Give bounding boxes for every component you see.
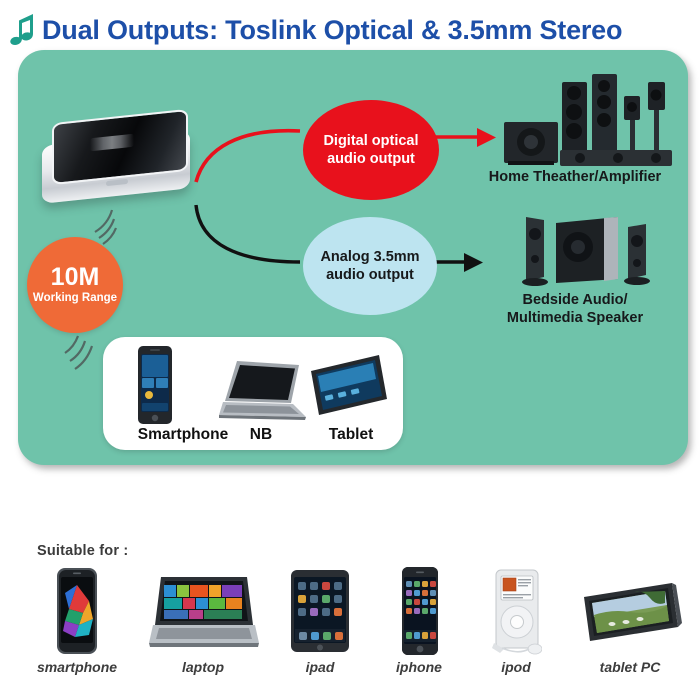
windows-laptop-icon <box>147 573 259 653</box>
home-theater-label: Home Theather/Amplifier <box>455 168 695 186</box>
ipod-classic-icon <box>492 569 542 655</box>
optical-output-callout: Digital optical audio output <box>303 100 439 200</box>
suitable-item-ipod: ipod <box>468 563 564 688</box>
tablet-pc-icon <box>574 579 686 649</box>
source-devices-box: Smartphone NB Tablet <box>103 337 403 450</box>
galaxy-phone-icon <box>55 567 99 655</box>
bluetooth-receiver-device <box>38 110 193 205</box>
iphone-icon <box>401 566 439 656</box>
analog-callout-line1: Analog 3.5mm <box>320 248 419 266</box>
bedside-audio-label-line2: Multimedia Speaker <box>455 309 695 327</box>
suitable-for-title: Suitable for : <box>37 543 128 559</box>
home-theater-speakers-icon <box>500 68 690 168</box>
suitable-item-iphone: iphone <box>372 563 466 688</box>
suitable-label-laptop: laptop <box>135 658 271 676</box>
suitable-item-smartphone: smartphone <box>22 563 132 688</box>
range-value: 10M <box>51 264 100 291</box>
optical-callout-line2: audio output <box>327 150 415 168</box>
page-title: Dual Outputs: Toslink Optical & 3.5mm St… <box>42 15 622 46</box>
source-label-tablet: Tablet <box>299 426 403 444</box>
music-note-icon <box>8 10 42 50</box>
suitable-label-ipad: ipad <box>272 658 368 676</box>
range-caption: Working Range <box>33 291 117 306</box>
suitable-label-ipod: ipod <box>468 658 564 676</box>
tablet-icon <box>305 351 391 425</box>
suitable-item-ipad: ipad <box>272 563 368 688</box>
bedside-audio-label: Bedside Audio/ Multimedia Speaker <box>455 291 695 327</box>
ipad-icon <box>290 569 350 653</box>
suitable-device-strip: smartphone <box>0 563 700 688</box>
working-range-badge: 10M Working Range <box>27 237 123 333</box>
suitable-item-tablet-pc: tablet PC <box>566 563 694 688</box>
suitable-label-tablet-pc: tablet PC <box>566 658 694 676</box>
optical-callout-line1: Digital optical <box>323 132 418 150</box>
analog-callout-line2: audio output <box>326 266 414 284</box>
suitable-item-laptop: laptop <box>135 563 271 688</box>
bedside-audio-label-line1: Bedside Audio/ <box>455 291 695 309</box>
suitable-label-smartphone: smartphone <box>22 658 132 676</box>
bookshelf-speakers-icon <box>500 203 670 291</box>
smartphone-icon <box>129 345 181 427</box>
laptop-icon <box>213 359 309 425</box>
analog-output-callout: Analog 3.5mm audio output <box>303 217 437 315</box>
page-header: Dual Outputs: Toslink Optical & 3.5mm St… <box>0 8 700 52</box>
suitable-label-iphone: iphone <box>372 658 466 676</box>
